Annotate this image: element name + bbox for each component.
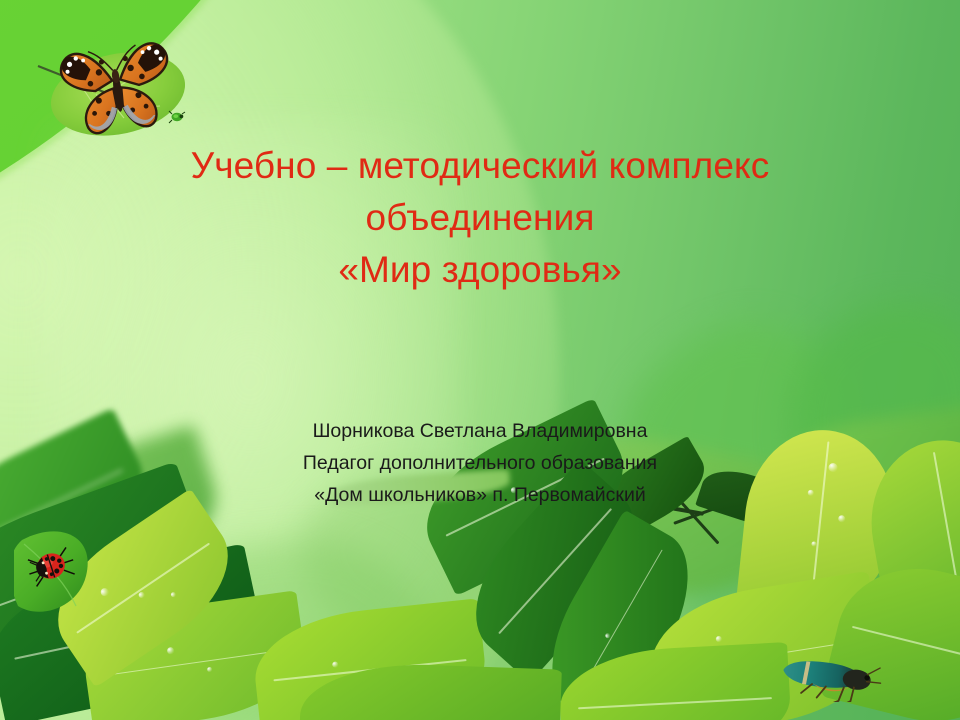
ladybug-decoration [14,522,144,632]
dew-drop [715,635,722,642]
dew-drop [207,667,213,673]
presentation-slide: Учебно – методический комплекс объединен… [0,0,960,720]
title-line-3: «Мир здоровья» [0,244,960,296]
dew-drop [811,541,816,546]
dew-drop [838,515,846,523]
subtitle-author: Шорникова Светлана Владимировна [0,415,960,447]
subtitle-organization: «Дом школьников» п. Первомайский [0,479,960,511]
slide-title: Учебно – методический комплекс объединен… [0,140,960,296]
ladybug-svg [14,522,144,632]
tiny-green-beetle [169,111,185,123]
leafhopper-body [780,658,882,702]
leaf-midrib [578,697,771,709]
title-line-1: Учебно – методический комплекс [0,140,960,192]
dew-drop [170,591,177,598]
title-line-2: объединения [0,192,960,244]
slide-subtitle: Шорникова Светлана Владимировна Педагог … [0,415,960,511]
leafhopper-decoration [770,642,890,702]
leafhopper-svg [770,642,890,702]
butterfly-svg [22,24,212,144]
subtitle-role: Педагог дополнительного образования [0,447,960,479]
dew-drop [166,647,174,655]
butterfly-decoration [22,24,212,144]
dew-drop [332,661,339,668]
